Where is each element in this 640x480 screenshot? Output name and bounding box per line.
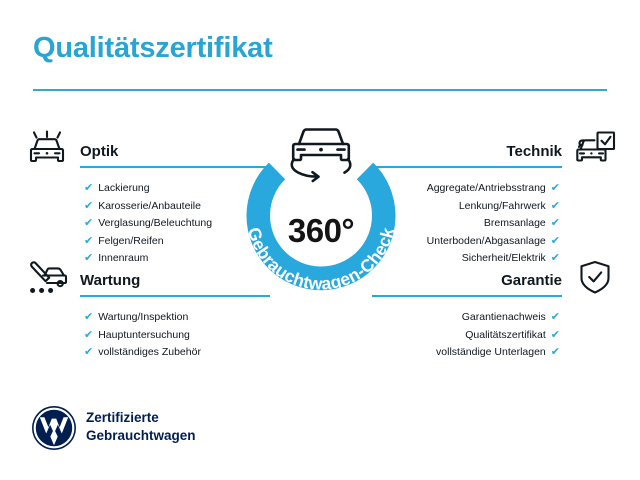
title-divider [33, 89, 607, 91]
certificate-page: Qualitätszertifikat O [0, 0, 640, 480]
list-item-label: vollständige Unterlagen [436, 344, 546, 362]
section-wartung: Wartung ✔Wartung/Inspektion ✔Hauptunters… [24, 257, 239, 362]
checklist-optik: ✔Lackierung ✔Karosserie/Anbauteile ✔Verg… [24, 180, 239, 268]
section-header-garantie: Garantie [403, 257, 618, 301]
check-icon: ✔ [84, 236, 93, 247]
list-item-label: Karosserie/Anbauteile [98, 198, 201, 216]
list-item: ✔Verglasung/Beleuchtung [24, 215, 239, 233]
check-icon: ✔ [84, 330, 93, 341]
footer-brand-line1: Zertifizierte [86, 409, 196, 427]
list-item: Bremsanlage✔ [403, 215, 618, 233]
car-checkbox-icon [572, 128, 618, 170]
shield-check-icon [572, 257, 618, 299]
list-item: Lenkung/Fahrwerk✔ [403, 198, 618, 216]
list-item-label: Felgen/Reifen [98, 233, 163, 251]
check-icon: ✔ [84, 347, 93, 358]
section-header-wartung: Wartung [24, 257, 239, 301]
section-title-wartung: Wartung [80, 272, 140, 289]
list-item: ✔Wartung/Inspektion [24, 309, 239, 327]
list-item: Unterboden/Abgasanlage✔ [403, 233, 618, 251]
list-item-label: Aggregate/Antriebsstrang [427, 180, 546, 198]
car-polish-icon [24, 128, 70, 170]
list-item-label: Lackierung [98, 180, 149, 198]
check-icon: ✔ [551, 183, 560, 194]
list-item-label: Unterboden/Abgasanlage [427, 233, 546, 251]
check-icon: ✔ [551, 236, 560, 247]
list-item-label: Verglasung/Beleuchtung [98, 215, 212, 233]
checklist-wartung: ✔Wartung/Inspektion ✔Hauptuntersuchung ✔… [24, 309, 239, 362]
section-title-garantie: Garantie [501, 272, 562, 289]
section-optik: Optik ✔Lackierung ✔Karosserie/Anbauteile… [24, 128, 239, 268]
check-icon: ✔ [84, 312, 93, 323]
list-item: vollständige Unterlagen✔ [403, 344, 618, 362]
list-item-label: Qualitätszertifikat [465, 327, 546, 345]
list-item-label: Garantienachweis [462, 309, 546, 327]
badge-center-label: 360° [228, 212, 414, 250]
check-icon: ✔ [551, 312, 560, 323]
check-icon: ✔ [551, 347, 560, 358]
list-item: Garantienachweis✔ [403, 309, 618, 327]
list-item: ✔Lackierung [24, 180, 239, 198]
section-header-optik: Optik [24, 128, 239, 172]
section-header-technik: Technik [403, 128, 618, 172]
list-item: ✔Felgen/Reifen [24, 233, 239, 251]
list-item-label: Lenkung/Fahrwerk [459, 198, 546, 216]
section-title-technik: Technik [506, 143, 562, 160]
footer-brand-text: Zertifizierte Gebrauchtwagen [86, 409, 196, 445]
list-item: ✔Hauptuntersuchung [24, 327, 239, 345]
section-garantie: Garantie Garantienachweis✔ Qualitätszert… [403, 257, 618, 362]
check-icon: ✔ [551, 330, 560, 341]
list-item-label: Hauptuntersuchung [98, 327, 190, 345]
section-title-optik: Optik [80, 143, 118, 160]
page-title: Qualitätszertifikat [33, 32, 273, 65]
list-item-label: Wartung/Inspektion [98, 309, 188, 327]
list-item: Aggregate/Antriebsstrang✔ [403, 180, 618, 198]
footer-brand-line2: Gebrauchtwagen [86, 427, 196, 445]
checklist-technik: Aggregate/Antriebsstrang✔ Lenkung/Fahrwe… [403, 180, 618, 268]
section-technik: Technik Aggregate/Antriebsstrang✔ Lenkun… [403, 128, 618, 268]
check-icon: ✔ [551, 201, 560, 212]
car-rotation-icon [292, 130, 351, 182]
list-item-label: vollständiges Zubehör [98, 344, 201, 362]
list-item: ✔vollständiges Zubehör [24, 344, 239, 362]
check-icon: ✔ [84, 201, 93, 212]
vw-logo-icon [30, 404, 78, 452]
check-icon: ✔ [84, 218, 93, 229]
badge-360-gebrauchtwagen-check: Gebrauchtwagen-Check 360° [228, 118, 414, 308]
wrench-car-icon [24, 257, 70, 299]
checklist-garantie: Garantienachweis✔ Qualitätszertifikat✔ v… [403, 309, 618, 362]
list-item-label: Bremsanlage [484, 215, 546, 233]
check-icon: ✔ [84, 183, 93, 194]
list-item: ✔Karosserie/Anbauteile [24, 198, 239, 216]
check-icon: ✔ [551, 218, 560, 229]
list-item: Qualitätszertifikat✔ [403, 327, 618, 345]
